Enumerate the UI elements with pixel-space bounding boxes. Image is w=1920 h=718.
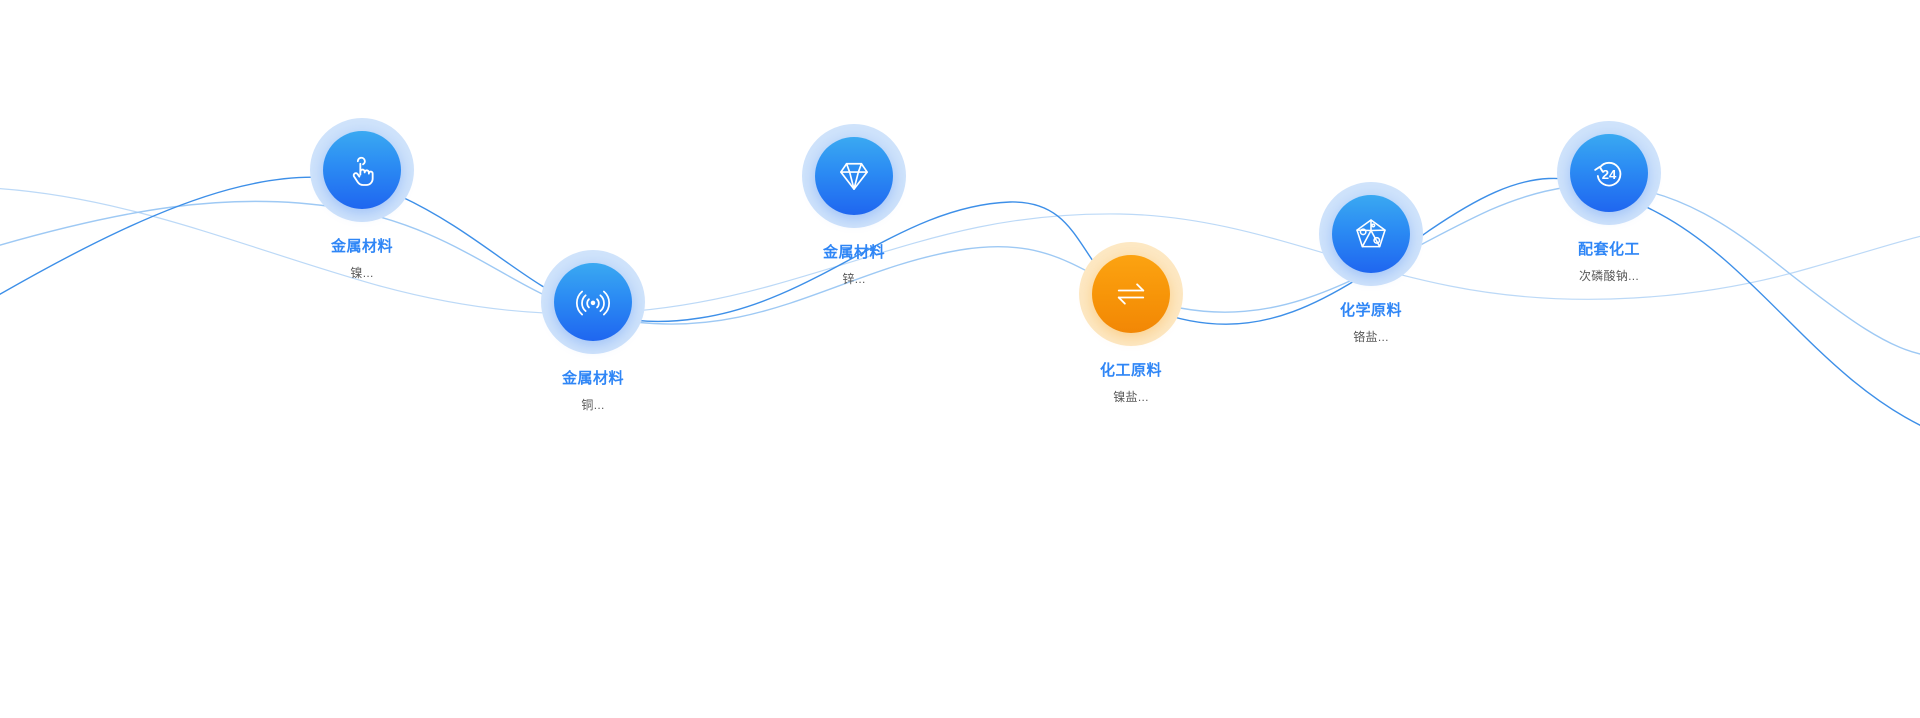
node-title: 化学原料: [1241, 300, 1501, 322]
exchange-arrows-icon: [1110, 273, 1152, 315]
node-subtitle: 铜...: [463, 395, 723, 415]
diamond-icon: [833, 155, 875, 197]
node-circle[interactable]: 24: [1570, 134, 1648, 212]
node-title: 化工原料: [1001, 360, 1261, 382]
service-24h-icon: 24: [1588, 152, 1630, 194]
hand-click-icon: [342, 150, 382, 190]
node-circle[interactable]: [815, 137, 893, 215]
node-circle[interactable]: [1092, 255, 1170, 333]
node-subtitle: 锌...: [724, 269, 984, 289]
node-subtitle: 铬盐...: [1241, 327, 1501, 347]
node-title: 金属材料: [463, 368, 723, 390]
node-circle[interactable]: [554, 263, 632, 341]
node-label-group: 金属材料 铜...: [463, 368, 723, 415]
node-title: 金属材料: [724, 242, 984, 264]
node-disc[interactable]: [323, 131, 401, 209]
node-disc[interactable]: [554, 263, 632, 341]
node-disc[interactable]: 24: [1570, 134, 1648, 212]
radar-waves-icon: [572, 281, 614, 323]
node-title: 金属材料: [232, 236, 492, 258]
node-subtitle: 镍...: [232, 263, 492, 283]
node-label-group: 化工原料 镍盐...: [1001, 360, 1261, 407]
node-disc[interactable]: [1332, 195, 1410, 273]
pentagon-molecule-icon: [1350, 213, 1392, 255]
node-disc[interactable]: [815, 137, 893, 215]
node-label-group: 化学原料 铬盐...: [1241, 300, 1501, 347]
node-circle[interactable]: [1332, 195, 1410, 273]
background-curves: [0, 0, 1920, 718]
node-title: 配套化工: [1479, 239, 1739, 261]
node-circle[interactable]: [323, 131, 401, 209]
node-subtitle: 镍盐...: [1001, 387, 1261, 407]
node-disc[interactable]: [1092, 255, 1170, 333]
node-label-group: 金属材料 镍...: [232, 236, 492, 283]
node-subtitle: 次磷酸钠...: [1479, 266, 1739, 286]
node-label-group: 配套化工 次磷酸钠...: [1479, 239, 1739, 286]
diagram-canvas: 金属材料 镍... 金属材料 铜...: [0, 0, 1920, 718]
svg-text:24: 24: [1602, 167, 1617, 182]
node-label-group: 金属材料 锌...: [724, 242, 984, 289]
